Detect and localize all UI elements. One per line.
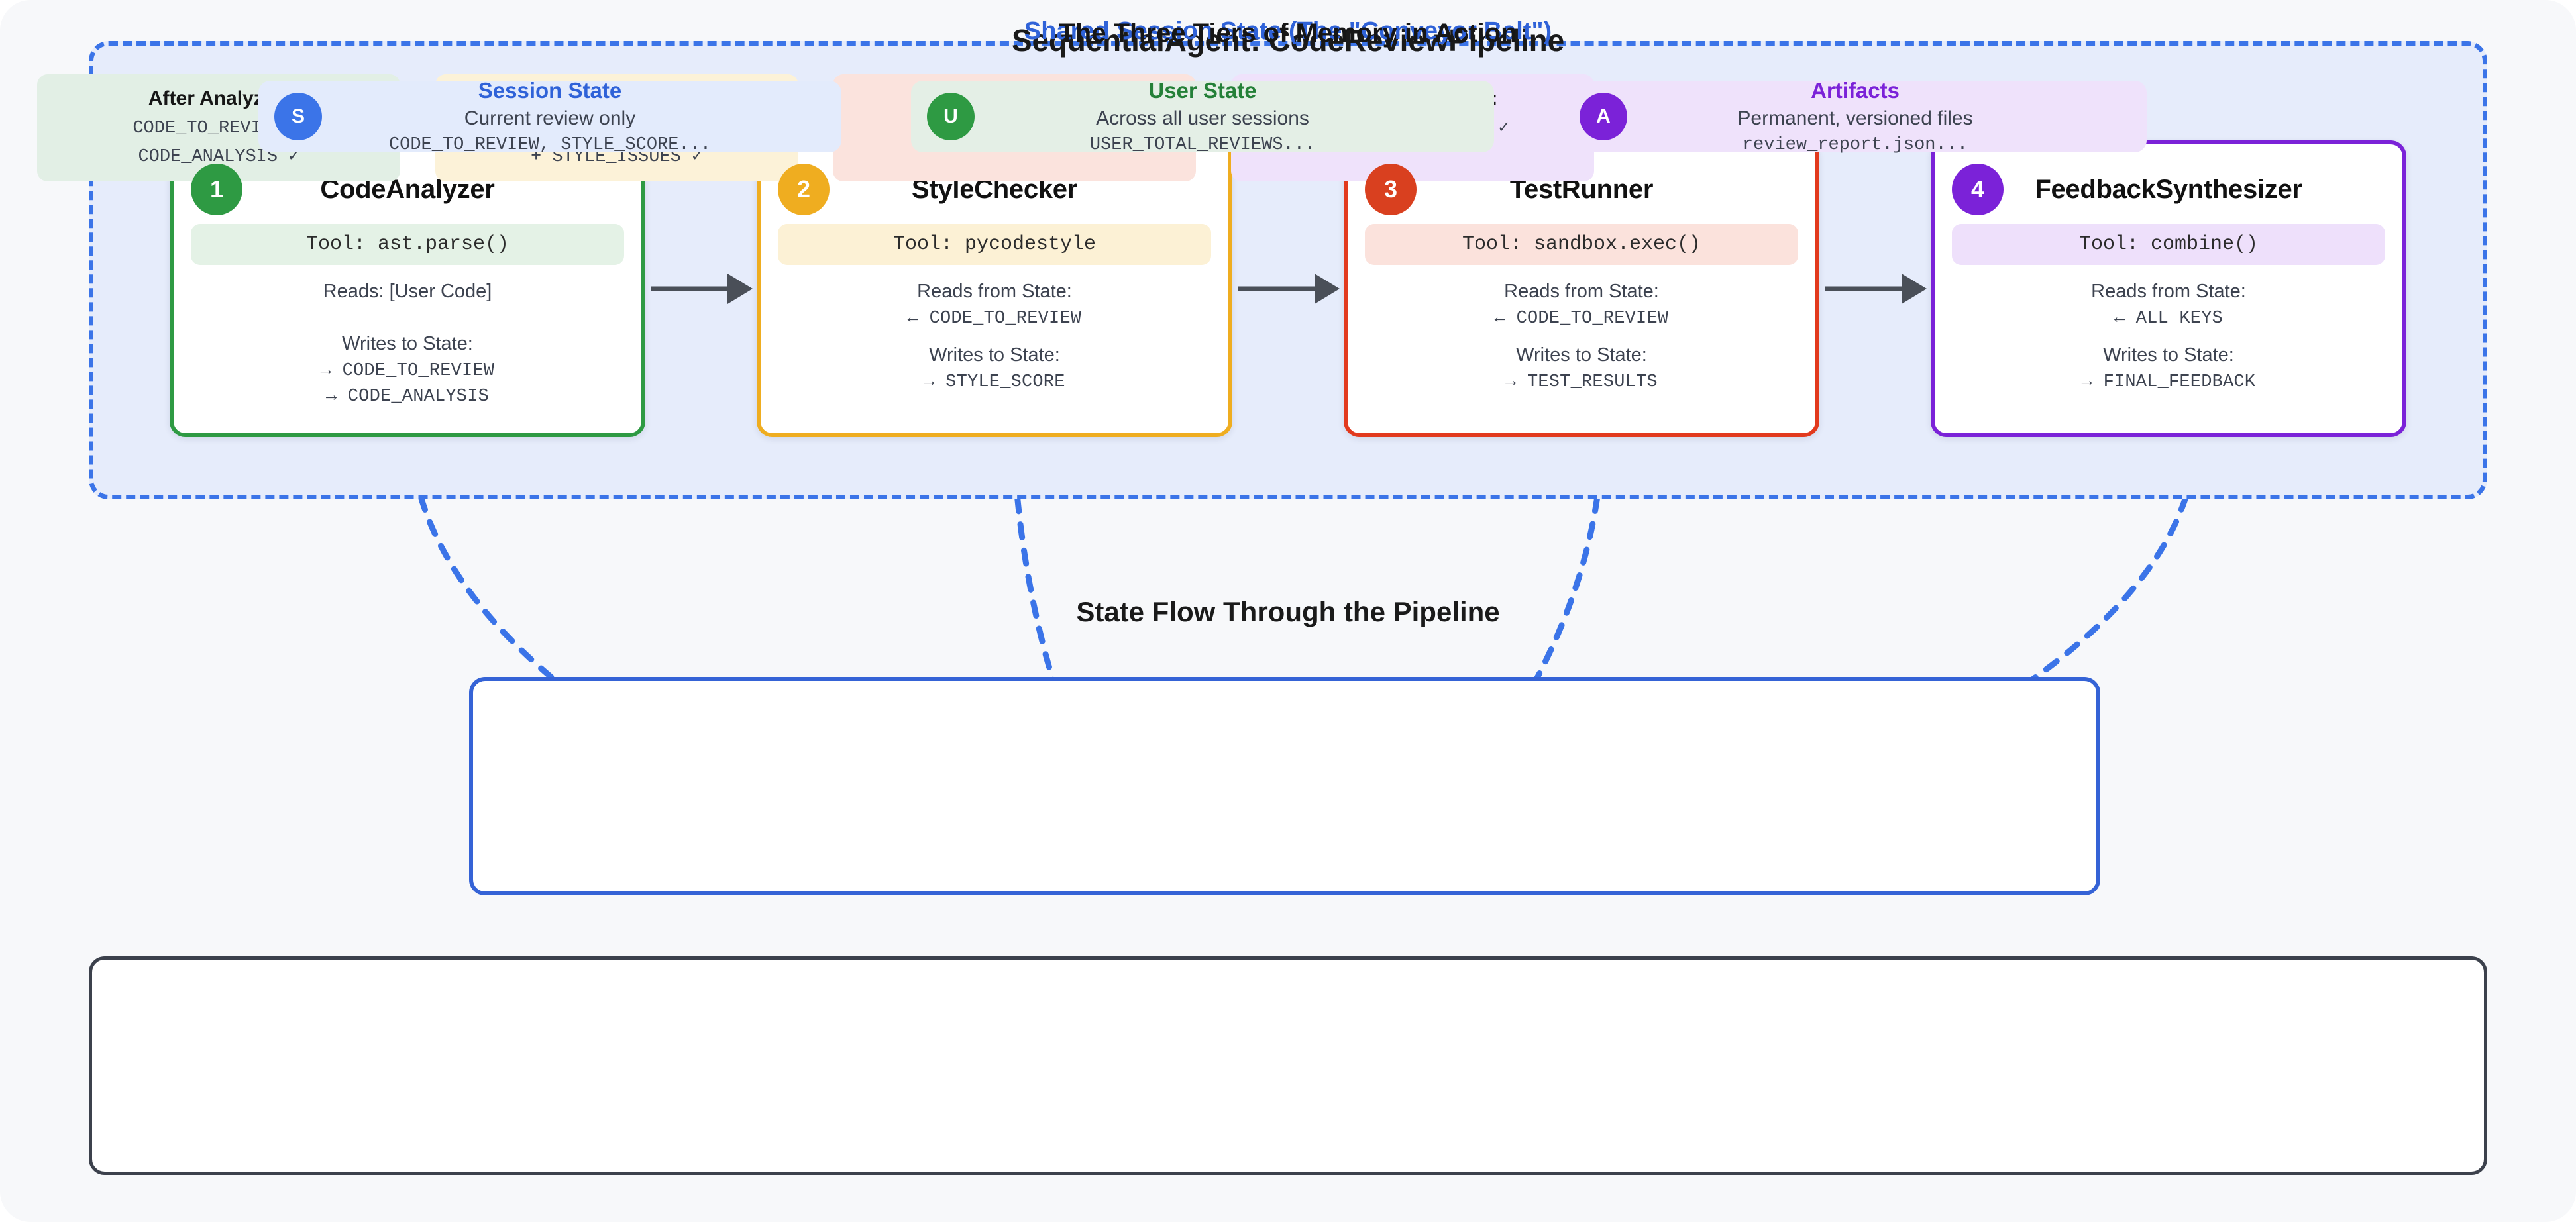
memory-tier-name: Session State — [258, 78, 841, 103]
agent-writes-key: → CODE_TO_REVIEW — [191, 361, 624, 381]
user-state-badge-icon: U — [927, 93, 975, 140]
pipeline-arrow-1 — [645, 140, 757, 437]
memory-tier-body: Artifacts Permanent, versioned files rev… — [1564, 78, 2147, 155]
agent-reads-key: ← ALL KEYS — [1952, 309, 2385, 329]
agent-card-stylechecker[interactable]: 2 StyleChecker Tool: pycodestyle Reads f… — [757, 140, 1232, 437]
agent-card-codeanalyzer[interactable]: 1 CodeAnalyzer Tool: ast.parse() Reads: … — [170, 140, 645, 437]
pipeline-arrow-3 — [1819, 140, 1931, 437]
memory-panel-title: The Three Tiers of Memory in Action — [0, 19, 2576, 48]
memory-tier-keys: USER_TOTAL_REVIEWS... — [911, 135, 1494, 155]
memory-tier-session-state[interactable]: S Session State Current review only CODE… — [258, 81, 841, 152]
shared-session-state-panel — [469, 677, 2100, 895]
arrow-head-icon — [727, 274, 753, 304]
agent-tool-chip: Tool: pycodestyle — [778, 224, 1211, 265]
session-state-badge-icon: S — [274, 93, 322, 140]
agent-reads-key: ← CODE_TO_REVIEW — [778, 309, 1211, 329]
memory-tier-desc: Permanent, versioned files — [1564, 107, 2147, 130]
memory-tier-body: User State Across all user sessions USER… — [911, 78, 1494, 155]
step-number-badge: 2 — [778, 164, 830, 215]
memory-tier-name: User State — [911, 78, 1494, 103]
memory-tier-desc: Current review only — [258, 107, 841, 130]
agent-writes-key: → FINAL_FEEDBACK — [1952, 372, 2385, 392]
agent-reads-label: Reads from State: — [778, 281, 1211, 303]
agent-name: FeedbackSynthesizer — [1952, 175, 2385, 205]
agent-card-header: 4 FeedbackSynthesizer — [1952, 159, 2385, 220]
agent-reads-label: Reads: [User Code] — [191, 281, 624, 303]
memory-tier-name: Artifacts — [1564, 78, 2147, 103]
agent-writes-key: → STYLE_SCORE — [778, 372, 1211, 392]
memory-tier-desc: Across all user sessions — [911, 107, 1494, 130]
arrow-head-icon — [1902, 274, 1927, 304]
agent-tool-chip: Tool: ast.parse() — [191, 224, 624, 265]
arrow-head-icon — [1315, 274, 1340, 304]
agent-card-testrunner[interactable]: 3 TestRunner Tool: sandbox.exec() Reads … — [1344, 140, 1819, 437]
agent-tool-chip: Tool: sandbox.exec() — [1365, 224, 1798, 265]
agent-writes-label: Writes to State: — [1952, 344, 2385, 366]
state-flow-section-title: State Flow Through the Pipeline — [0, 596, 2576, 628]
agent-card-feedbacksynthesizer[interactable]: 4 FeedbackSynthesizer Tool: combine() Re… — [1931, 140, 2406, 437]
memory-tiers-panel — [89, 956, 2487, 1175]
memory-tier-keys: review_report.json... — [1564, 135, 2147, 155]
arrow-line — [1238, 287, 1317, 291]
arrow-line — [1825, 287, 1904, 291]
arrow-line — [651, 287, 730, 291]
memory-tier-user-state[interactable]: U User State Across all user sessions US… — [911, 81, 1494, 152]
step-number-badge: 4 — [1952, 164, 2004, 215]
diagram-canvas: SequentialAgent: CodeReviewPipeline 1 Co… — [0, 0, 2576, 1222]
artifacts-badge-icon: A — [1580, 93, 1627, 140]
step-number-badge: 1 — [191, 164, 242, 215]
agent-writes-label: Writes to State: — [1365, 344, 1798, 366]
memory-tier-artifacts[interactable]: A Artifacts Permanent, versioned files r… — [1564, 81, 2147, 152]
pipeline-arrow-2 — [1232, 140, 1344, 437]
agent-reads-label: Reads from State: — [1952, 281, 2385, 303]
agent-writes-key: → CODE_ANALYSIS — [191, 387, 624, 407]
memory-tier-keys: CODE_TO_REVIEW, STYLE_SCORE... — [258, 135, 841, 155]
memory-tiers-row: S Session State Current review only CODE… — [258, 81, 2147, 152]
agent-writes-label: Writes to State: — [191, 333, 624, 355]
agent-reads-label: Reads from State: — [1365, 281, 1798, 303]
agent-tool-chip: Tool: combine() — [1952, 224, 2385, 265]
agent-writes-label: Writes to State: — [778, 344, 1211, 366]
agent-writes-key: → TEST_RESULTS — [1365, 372, 1798, 392]
memory-tier-body: Session State Current review only CODE_T… — [258, 78, 841, 155]
agent-cards-row: 1 CodeAnalyzer Tool: ast.parse() Reads: … — [170, 140, 2406, 437]
agent-reads-key: ← CODE_TO_REVIEW — [1365, 309, 1798, 329]
step-number-badge: 3 — [1365, 164, 1417, 215]
